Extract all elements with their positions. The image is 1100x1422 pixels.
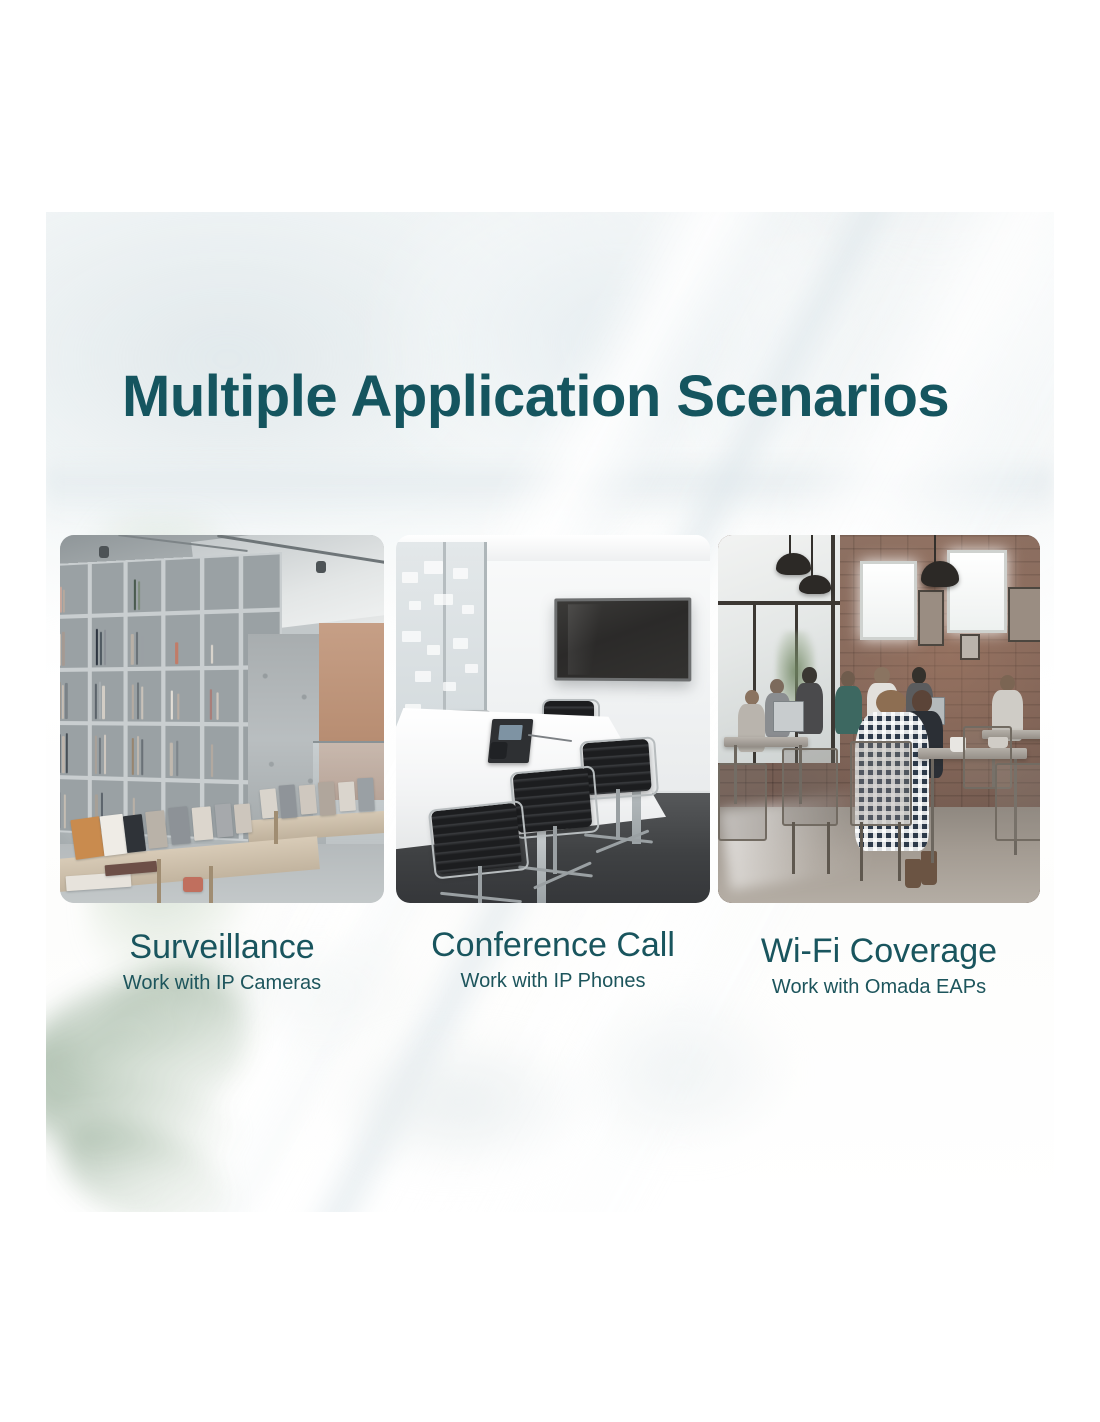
card-title: Wi-Fi Coverage — [718, 929, 1040, 973]
bookstore-library-shelves-photo — [60, 535, 384, 903]
ip-desk-phone — [490, 719, 531, 763]
card-subtitle: Work with Omada EAPs — [718, 973, 1040, 1001]
caption-wifi-coverage: Wi-Fi Coverage Work with Omada EAPs — [718, 903, 1040, 1001]
application-scenarios-banner: Multiple Application Scenarios — [46, 212, 1054, 1212]
caption-surveillance: Surveillance Work with IP Cameras — [60, 903, 384, 997]
page-canvas: Multiple Application Scenarios — [0, 0, 1100, 1422]
conference-room-photo — [396, 535, 710, 903]
cafe-coworking-space-photo — [718, 535, 1040, 903]
scenario-card-wifi-coverage[interactable]: Wi-Fi Coverage Work with Omada EAPs — [718, 535, 1040, 1001]
card-title: Surveillance — [60, 925, 384, 969]
scenario-card-conference-call[interactable]: Conference Call Work with IP Phones — [396, 535, 710, 995]
card-title: Conference Call — [396, 923, 710, 967]
scenario-card-surveillance[interactable]: Surveillance Work with IP Cameras — [60, 535, 384, 997]
scenario-card-row: Surveillance Work with IP Cameras — [60, 535, 1054, 1035]
card-subtitle: Work with IP Cameras — [60, 969, 384, 997]
card-subtitle: Work with IP Phones — [396, 967, 710, 995]
page-title: Multiple Application Scenarios — [122, 367, 1002, 428]
caption-conference-call: Conference Call Work with IP Phones — [396, 903, 710, 995]
